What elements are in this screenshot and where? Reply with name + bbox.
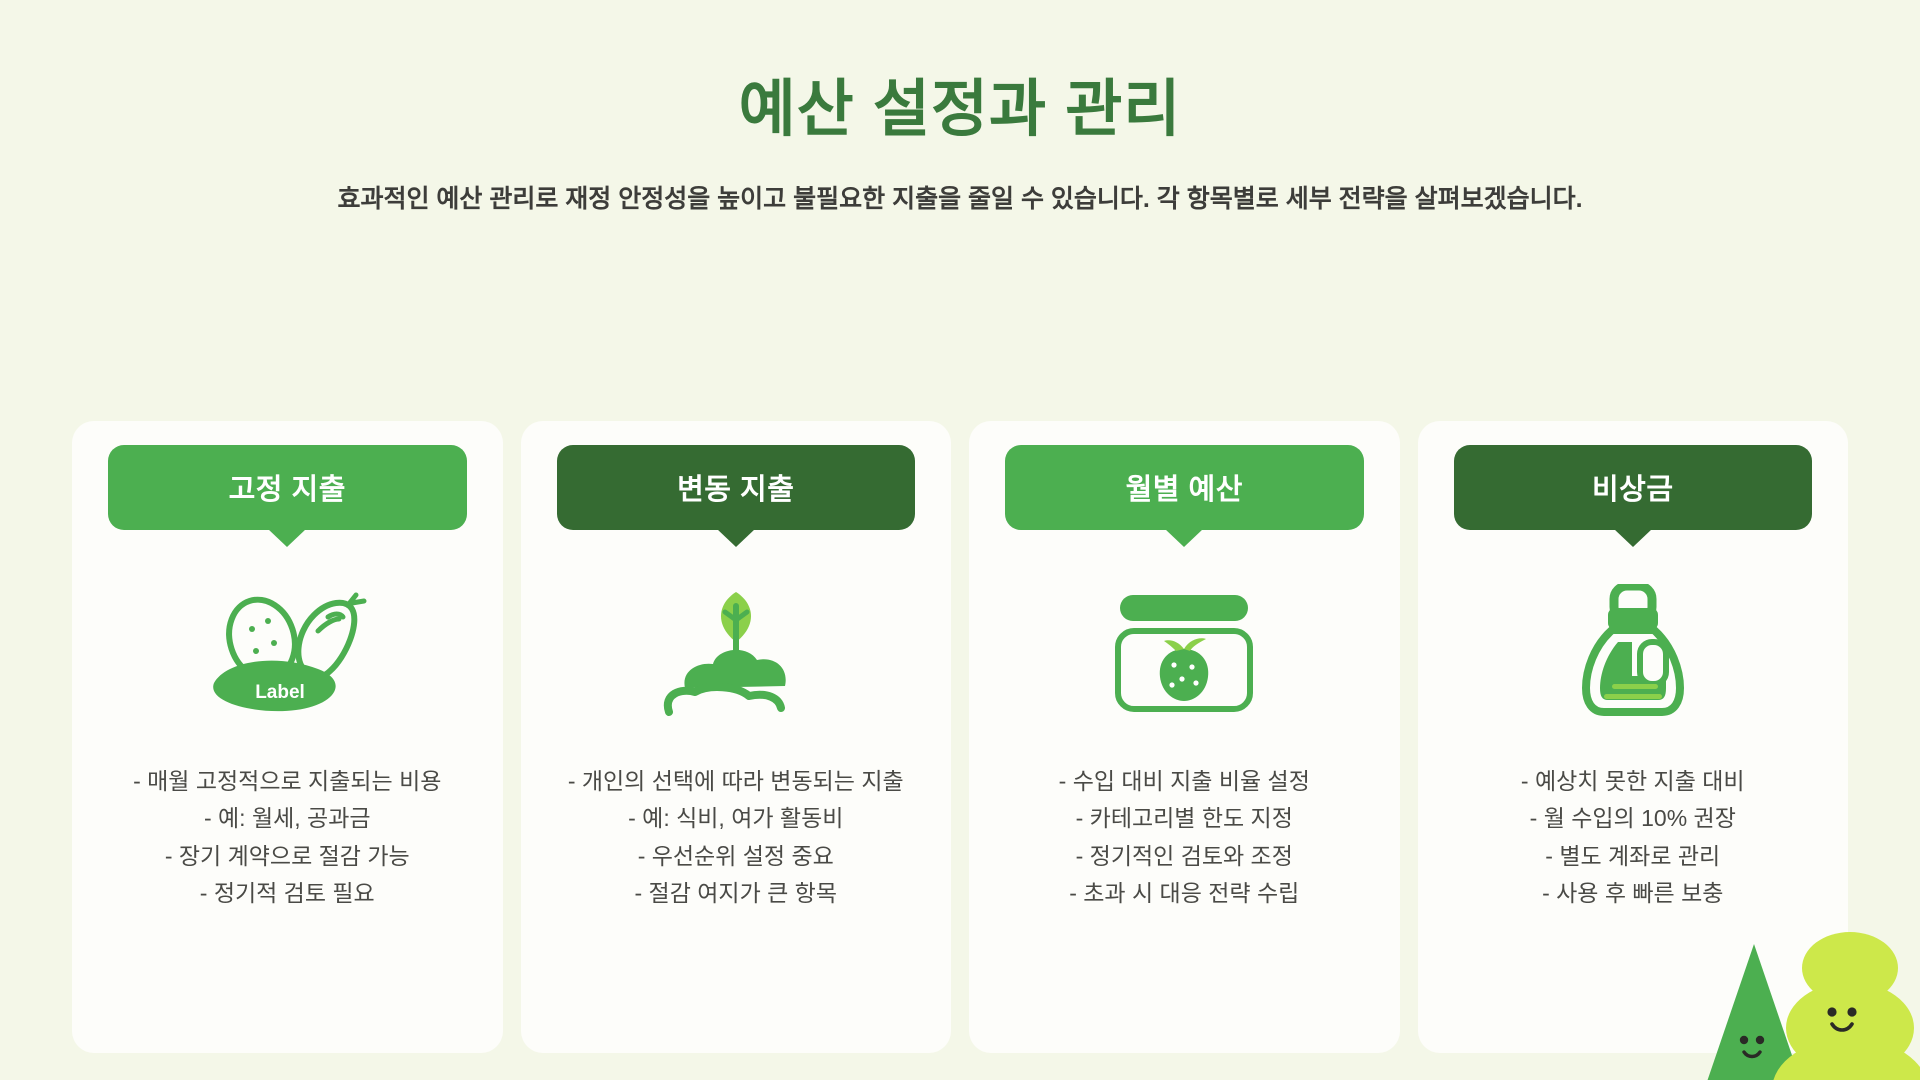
card-line: - 우선순위 설정 중요 — [547, 838, 926, 875]
card-body: - 매월 고정적으로 지출되는 비용 - 예: 월세, 공과금 - 장기 계약으… — [94, 763, 481, 912]
card-line: - 정기적인 검토와 조정 — [995, 838, 1374, 875]
card-header: 월별 예산 — [1005, 445, 1364, 530]
card-line: - 예상치 못한 지출 대비 — [1444, 763, 1823, 800]
hand-holding-sprout-icon — [651, 584, 821, 719]
vegetables-label-icon: Label — [200, 584, 375, 719]
card-line: - 초과 시 대응 전략 수립 — [995, 875, 1374, 912]
card-header: 비상금 — [1454, 445, 1813, 530]
icon-label-text: Label — [255, 682, 305, 703]
card-body: - 개인의 선택에 따라 변동되는 지출 - 예: 식비, 여가 활동비 - 우… — [543, 763, 930, 912]
card-variable-expenses[interactable]: 변동 지출 - 개인의 선택에 따라 변동되는 지출 - 예: 식비, 여가 활… — [521, 421, 952, 1053]
card-fixed-expenses[interactable]: 고정 지출 Label - 매월 고정적으로 지출되는 비용 - 예: 월세, … — [72, 421, 503, 1053]
card-line: - 별도 계좌로 관리 — [1444, 838, 1823, 875]
card-line: - 사용 후 빠른 보충 — [1444, 875, 1823, 912]
card-line: - 장기 계약으로 절감 가능 — [98, 838, 477, 875]
card-row: 고정 지출 Label - 매월 고정적으로 지출되는 비용 - 예: 월세, … — [72, 421, 1848, 1053]
card-line: - 예: 월세, 공과금 — [98, 800, 477, 837]
card-line: - 개인의 선택에 따라 변동되는 지출 — [547, 763, 926, 800]
strawberry-jar-icon — [1104, 584, 1264, 719]
card-line: - 절감 여지가 큰 항목 — [547, 875, 926, 912]
detergent-bottle-icon — [1568, 584, 1698, 719]
card-header: 변동 지출 — [557, 445, 916, 530]
card-body: - 예상치 못한 지출 대비 - 월 수입의 10% 권장 - 별도 계좌로 관… — [1440, 763, 1827, 912]
card-emergency-fund[interactable]: 비상금 - 예상치 못한 지출 대비 - 월 수입의 10% 권장 - 별도 계… — [1418, 421, 1849, 1053]
page-title: 예산 설정과 관리 — [0, 76, 1920, 144]
card-line: - 예: 식비, 여가 활동비 — [547, 800, 926, 837]
card-line: - 수입 대비 지출 비율 설정 — [995, 763, 1374, 800]
card-line: - 카테고리별 한도 지정 — [995, 800, 1374, 837]
page-subtitle: 효과적인 예산 관리로 재정 안정성을 높이고 불필요한 지출을 줄일 수 있습… — [0, 182, 1920, 217]
card-line: - 월 수입의 10% 권장 — [1444, 800, 1823, 837]
card-header: 고정 지출 — [108, 445, 467, 530]
card-line: - 매월 고정적으로 지출되는 비용 — [98, 763, 477, 800]
card-body: - 수입 대비 지출 비율 설정 - 카테고리별 한도 지정 - 정기적인 검토… — [991, 763, 1378, 912]
card-monthly-budget[interactable]: 월별 예산 - 수입 대비 지출 비율 설정 - 카테고리별 한도 지정 - 정… — [969, 421, 1400, 1053]
card-line: - 정기적 검토 필요 — [98, 875, 477, 912]
